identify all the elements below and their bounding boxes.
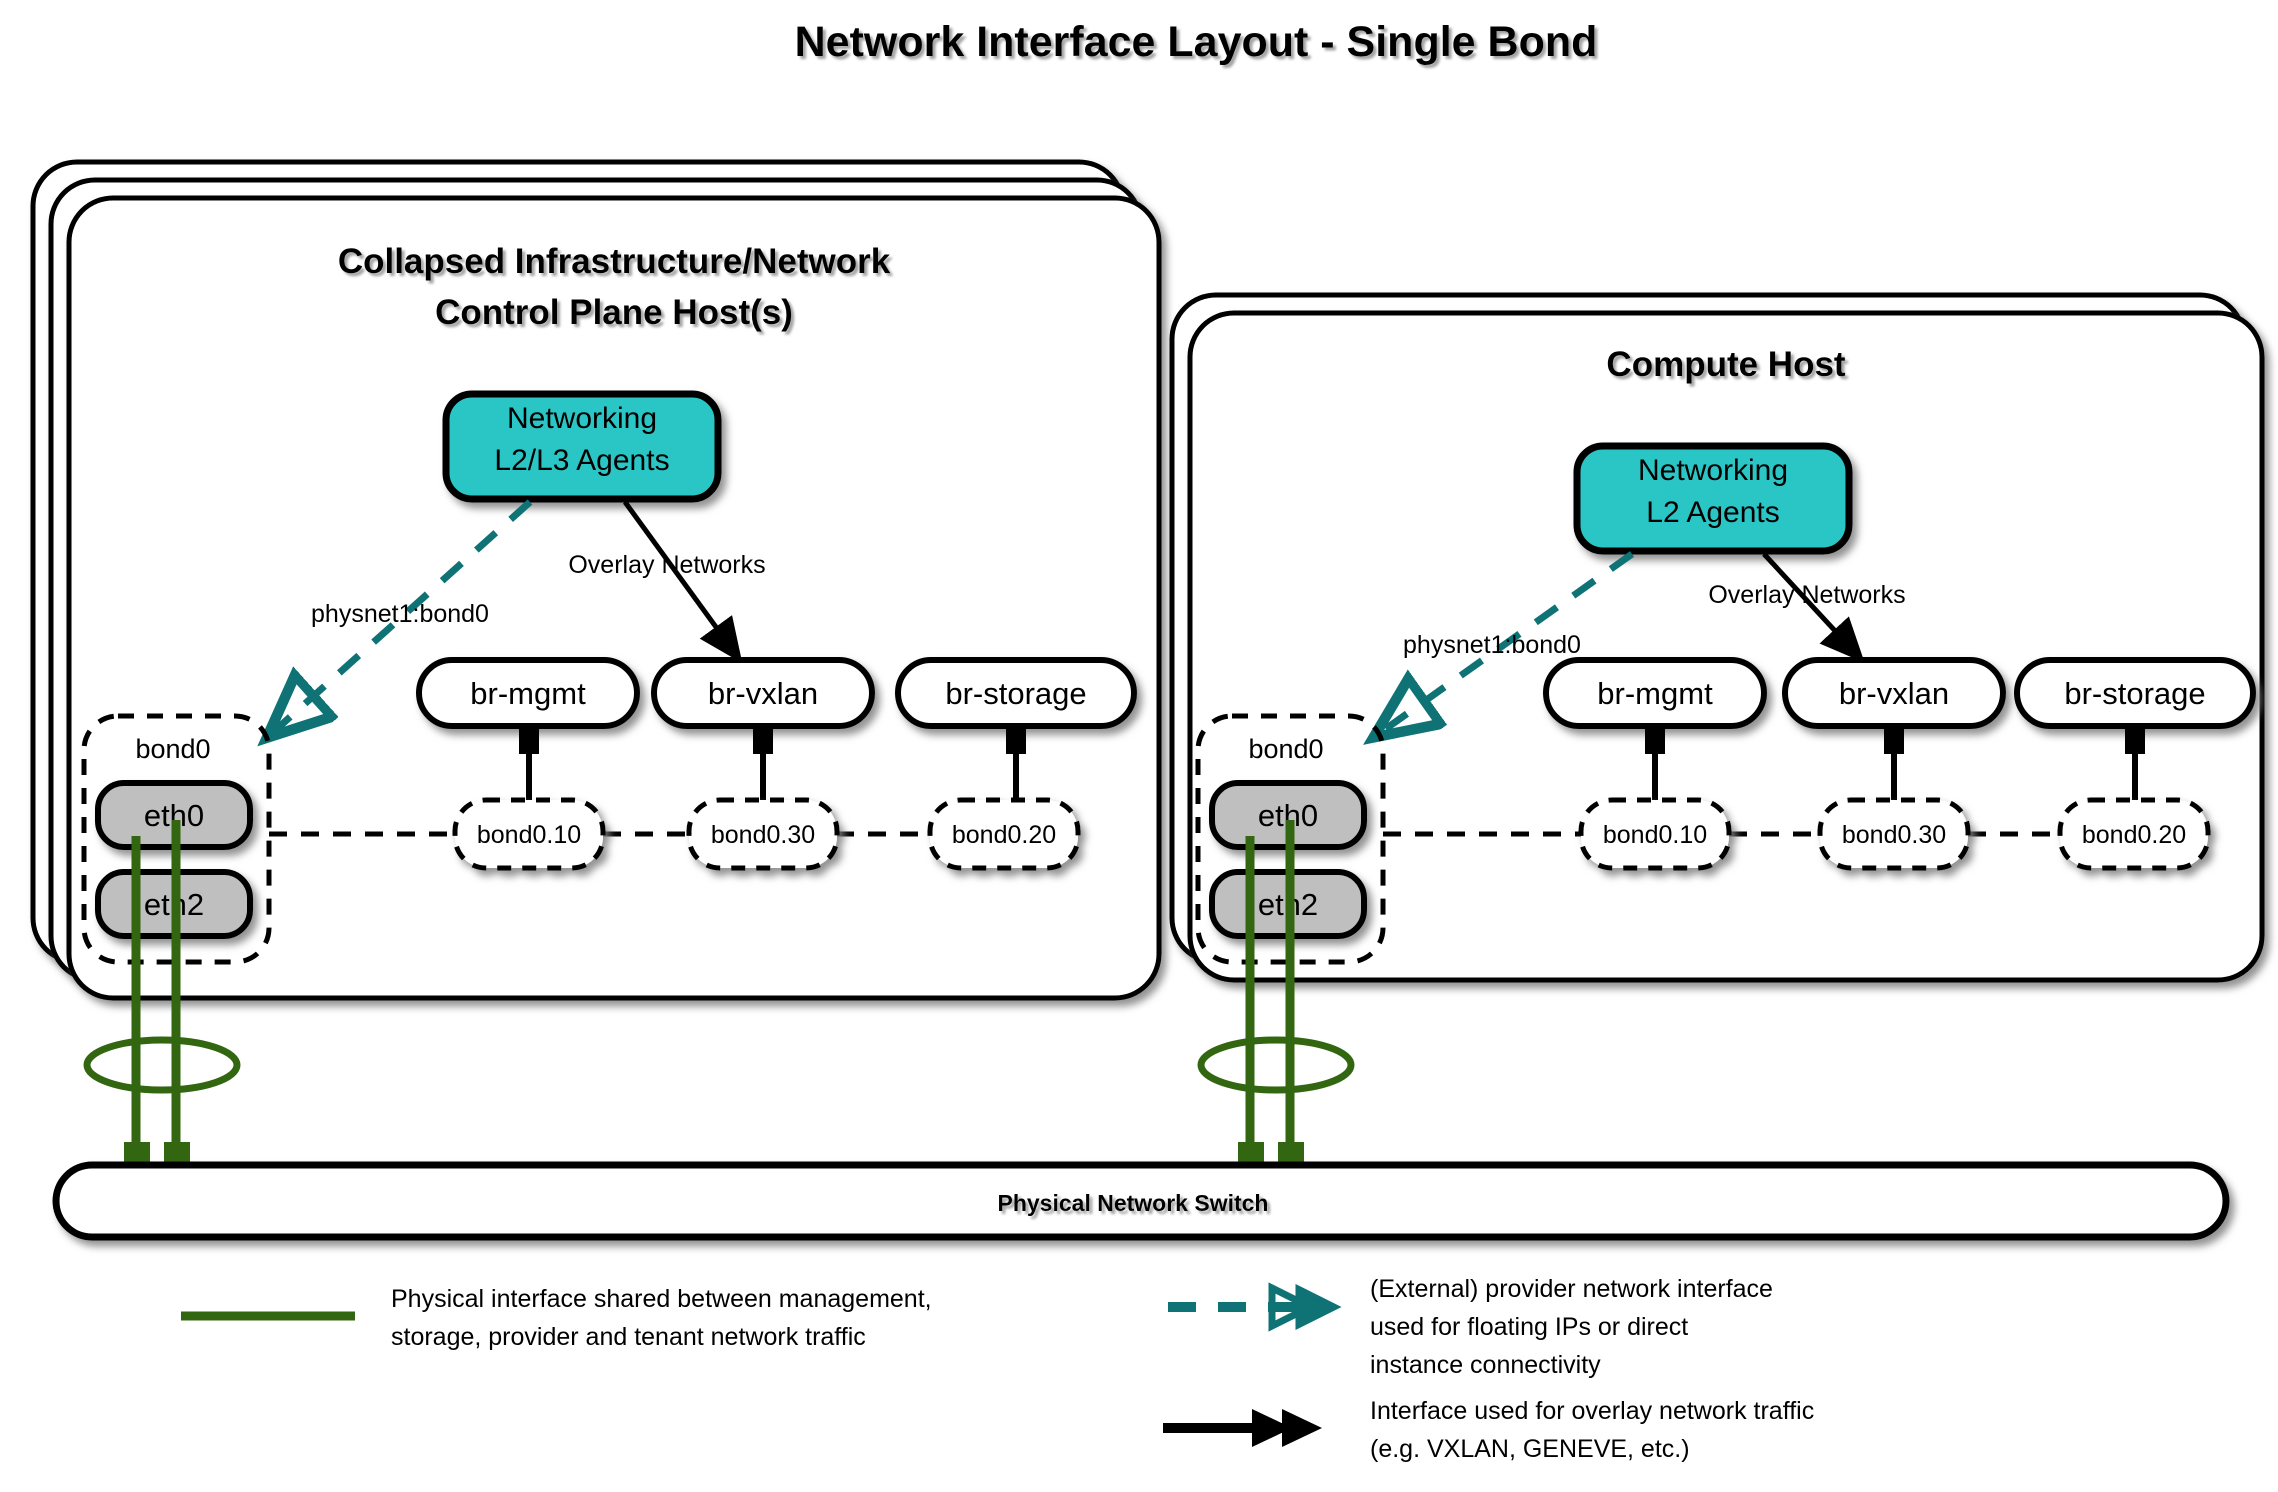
control-plane-bridge-br-storage[interactable]: br-storage xyxy=(898,660,1134,726)
compute-vlan-bond0-30[interactable]: bond0.30 xyxy=(1820,800,1968,868)
control-plane-overlay-edge-label: Overlay Networks xyxy=(568,551,765,579)
control-plane-vlan-bond0-10-label: bond0.10 xyxy=(477,821,581,849)
compute-bridge-br-storage[interactable]: br-storage xyxy=(2017,660,2253,726)
compute-vlan-bond0-20[interactable]: bond0.20 xyxy=(2060,800,2208,868)
legend-overlay-network-line2: (e.g. VXLAN, GENEVE, etc.) xyxy=(1370,1435,1690,1463)
control-plane-host-title-line2: Control Plane Host(s) xyxy=(435,293,793,332)
compute-provider-edge-label: physnet1:bond0 xyxy=(1403,631,1581,659)
control-plane-host-title-line1: Collapsed Infrastructure/Network xyxy=(338,242,891,281)
legend-provider-network-marker xyxy=(1168,1288,1336,1326)
compute-agents-label-line2: L2 Agents xyxy=(1646,496,1779,529)
compute-overlay-edge-label: Overlay Networks xyxy=(1708,581,1905,609)
legend-physical-interface-line1: Physical interface shared between manage… xyxy=(391,1285,932,1313)
compute-vlan-bond0-10[interactable]: bond0.10 xyxy=(1581,800,1729,868)
network-diagram: Network Interface Layout - Single Bond C… xyxy=(0,0,2278,1492)
control-plane-agents-node[interactable]: Networking L2/L3 Agents xyxy=(446,394,718,499)
control-plane-vlan-bond0-30[interactable]: bond0.30 xyxy=(689,800,837,868)
legend-physical-interface-line2: storage, provider and tenant network tra… xyxy=(391,1323,866,1351)
compute-vlan-bond0-20-label: bond0.20 xyxy=(2082,821,2186,849)
control-plane-vlan-bond0-10[interactable]: bond0.10 xyxy=(455,800,603,868)
compute-bond-ring xyxy=(1201,1040,1351,1090)
page-title: Network Interface Layout - Single Bond xyxy=(795,18,1598,66)
compute-agents-node[interactable]: Networking L2 Agents xyxy=(1577,446,1849,551)
physical-network-switch[interactable]: Physical Network Switch xyxy=(56,1165,2226,1237)
legend-provider-network-line1: (External) provider network interface xyxy=(1370,1275,1773,1303)
compute-bridge-br-vxlan[interactable]: br-vxlan xyxy=(1785,660,2003,726)
legend-provider-network-line3: instance connectivity xyxy=(1370,1351,1601,1379)
control-plane-bridge-br-vxlan[interactable]: br-vxlan xyxy=(654,660,872,726)
control-plane-bond-ring xyxy=(87,1040,237,1090)
legend-overlay-network-line1: Interface used for overlay network traff… xyxy=(1370,1397,1814,1425)
compute-bridge-br-vxlan-label: br-vxlan xyxy=(1839,676,1949,711)
diagram-canvas: Network Interface Layout - Single Bond C… xyxy=(0,0,2278,1492)
legend-overlay-network-marker xyxy=(1163,1409,1322,1447)
control-plane-vlan-bond0-30-label: bond0.30 xyxy=(711,821,815,849)
legend-item-overlay-network-interface: Interface used for overlay network traff… xyxy=(1163,1397,1814,1463)
compute-bridge-br-mgmt-label: br-mgmt xyxy=(1597,676,1713,711)
compute-vlan-bond0-30-label: bond0.30 xyxy=(1842,821,1946,849)
control-plane-provider-edge-label: physnet1:bond0 xyxy=(311,600,489,628)
legend-item-provider-network-interface: (External) provider network interface us… xyxy=(1168,1275,1773,1379)
compute-bond0-label: bond0 xyxy=(1248,734,1323,764)
legend-item-physical-interface: Physical interface shared between manage… xyxy=(181,1285,932,1351)
compute-agents-label-line1: Networking xyxy=(1638,454,1788,487)
control-plane-agents-label-line1: Networking xyxy=(507,402,657,435)
physical-network-switch-label: Physical Network Switch xyxy=(998,1190,1269,1216)
control-plane-bridge-br-mgmt-label: br-mgmt xyxy=(470,676,586,711)
control-plane-bridge-br-vxlan-label: br-vxlan xyxy=(708,676,818,711)
control-plane-bridge-br-storage-label: br-storage xyxy=(945,676,1086,711)
compute-vlan-bond0-10-label: bond0.10 xyxy=(1603,821,1707,849)
legend-provider-network-line2: used for floating IPs or direct xyxy=(1370,1313,1688,1341)
control-plane-bridge-br-mgmt[interactable]: br-mgmt xyxy=(419,660,637,726)
control-plane-agents-label-line2: L2/L3 Agents xyxy=(494,444,669,477)
control-plane-vlan-bond0-20[interactable]: bond0.20 xyxy=(930,800,1078,868)
control-plane-vlan-bond0-20-label: bond0.20 xyxy=(952,821,1056,849)
compute-host-title: Compute Host xyxy=(1606,345,1846,384)
compute-bridge-br-storage-label: br-storage xyxy=(2064,676,2205,711)
control-plane-bond0-label: bond0 xyxy=(135,734,210,764)
compute-bridge-br-mgmt[interactable]: br-mgmt xyxy=(1546,660,1764,726)
